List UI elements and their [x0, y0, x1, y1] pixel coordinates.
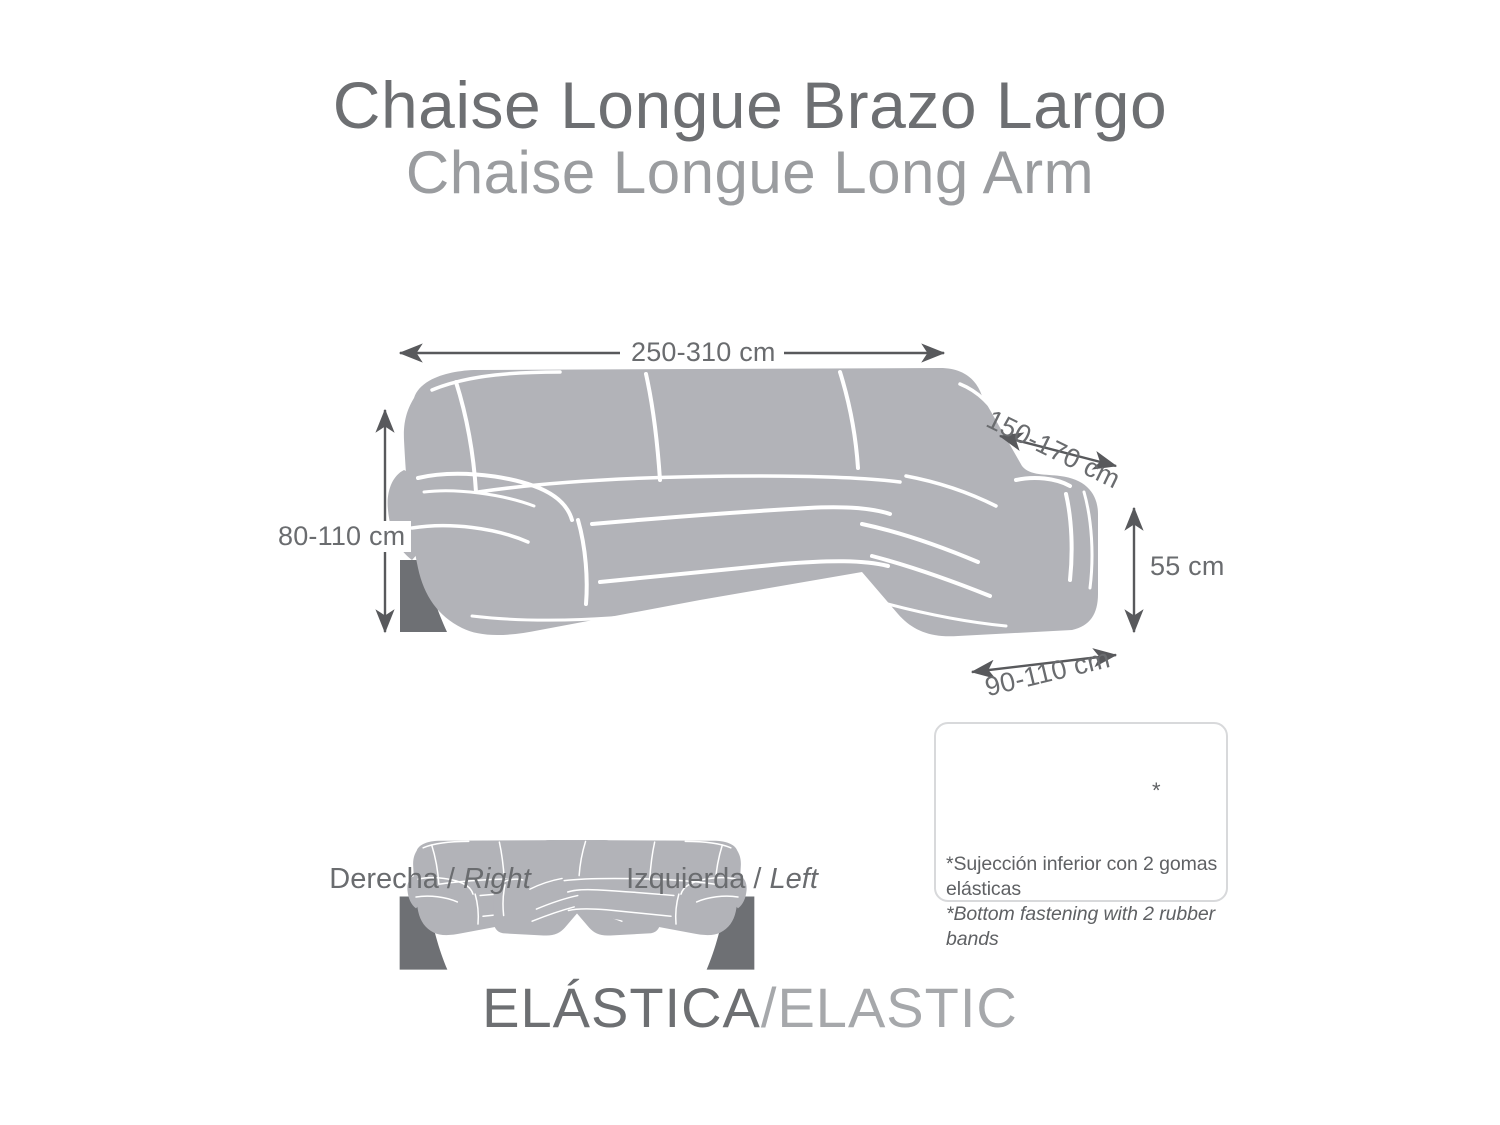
variant-caption-left-english: Left — [770, 863, 818, 895]
sofa-base-shadow — [400, 560, 447, 632]
elastic-band-asterisk: * — [1152, 780, 1161, 802]
dimension-label-width: 250-310 cm — [623, 337, 784, 368]
dimension-label-height: 80-110 cm — [272, 521, 411, 552]
chaise-seam-lines — [862, 384, 1092, 626]
dimension-label-chaise-width: 90-110 cm — [982, 643, 1113, 703]
footer-label-spanish: ELÁSTICA — [482, 976, 761, 1039]
variant-caption-left: Izquierda / Left — [572, 863, 872, 896]
main-sofa-illustration — [388, 368, 1098, 636]
dimension-arrows — [385, 353, 1134, 672]
dimension-label-depth: 150-170 cm — [981, 404, 1125, 495]
page-title-english: Chaise Longue Long Arm — [0, 139, 1500, 206]
fastening-note-english: *Bottom fastening with 2 rubber bands — [946, 902, 1236, 952]
fastening-note: *Sujección inferior con 2 gomas elástica… — [946, 852, 1236, 952]
variant-caption-right-english: Right — [463, 863, 531, 895]
product-dimension-diagram: Chaise Longue Brazo Largo Chaise Longue … — [0, 0, 1500, 1125]
illustration-layer — [0, 0, 1500, 1125]
variant-caption-right: Derecha / Right — [280, 863, 580, 896]
footer-block: ELÁSTICA/ELASTIC — [0, 975, 1500, 1040]
title-block: Chaise Longue Brazo Largo Chaise Longue … — [0, 72, 1500, 207]
sofa-seam-lines — [412, 372, 900, 620]
dimension-label-chaise-height: 55 cm — [1150, 551, 1225, 582]
footer-label-english: /ELASTIC — [761, 976, 1018, 1039]
fastening-note-spanish: *Sujección inferior con 2 gomas elástica… — [946, 852, 1236, 902]
variant-caption-right-spanish: Derecha / — [329, 863, 455, 895]
variant-illustration-right — [400, 840, 661, 970]
variant-caption-left-spanish: Izquierda / — [626, 863, 761, 895]
page-title-spanish: Chaise Longue Brazo Largo — [0, 72, 1500, 139]
variant-illustration-left — [494, 840, 755, 970]
